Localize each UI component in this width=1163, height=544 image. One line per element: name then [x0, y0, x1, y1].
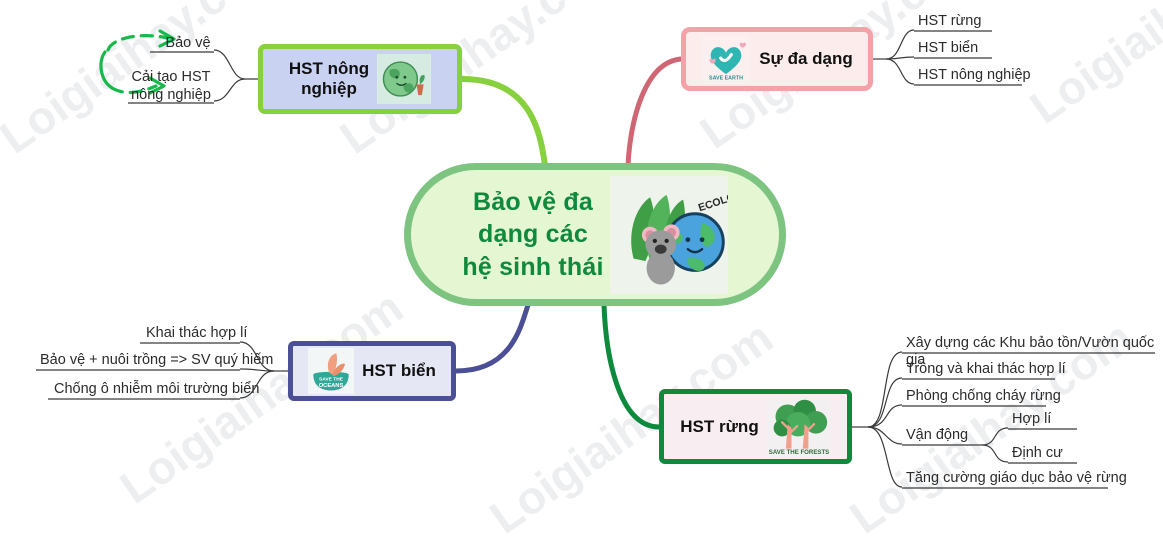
- sub-label-forest-5[interactable]: Tăng cường giáo dục bảo vệ rừng: [906, 470, 1127, 487]
- mindmap-canvas: Loigiaihay.com Loigiaihay.com Loigiaihay…: [0, 0, 1163, 503]
- sub-label-forest-3[interactable]: Phòng chống cháy rừng: [906, 388, 1061, 405]
- branch-node-sea[interactable]: SAVE THE OCEANS HST biển: [288, 341, 456, 401]
- branch-node-agriculture-label: HST nông nghiệp: [289, 59, 369, 98]
- sub-label-forest-vandong-2[interactable]: Định cư: [1012, 445, 1063, 462]
- earth-hugging-plant-icon: [377, 54, 431, 104]
- central-node[interactable]: Bảo vệ đa dạng các hệ sinh thái: [404, 163, 786, 306]
- save-the-oceans-whale-icon: SAVE THE OCEANS: [308, 348, 354, 394]
- branch-node-sea-label: HST biển: [362, 361, 436, 381]
- branch-node-forest[interactable]: HST rừng SAVE THE FORESTS: [659, 389, 852, 464]
- save-earth-heart-icon: SAVE EARTH: [701, 35, 751, 83]
- sub-label-forest-vandong-1[interactable]: Hợp lí: [1012, 411, 1051, 428]
- svg-text:SAVE EARTH: SAVE EARTH: [709, 75, 743, 81]
- central-node-label: Bảo vệ đa dạng các hệ sinh thái: [462, 186, 603, 284]
- sub-label-agri-2[interactable]: Cải tạo HST nông nghiệp: [128, 68, 214, 104]
- sub-label-diversity-1[interactable]: HST rừng: [918, 13, 981, 30]
- sub-label-forest-2[interactable]: Trồng và khai thác hợp lí: [906, 361, 1066, 378]
- branch-node-diversity-label: Sự đa dạng: [759, 49, 853, 69]
- svg-text:SAVE THE FORESTS: SAVE THE FORESTS: [768, 449, 829, 456]
- sub-label-diversity-2[interactable]: HST biển: [918, 40, 978, 57]
- branch-node-diversity[interactable]: SAVE EARTH Sự đa dạng: [681, 27, 873, 91]
- branch-node-agriculture[interactable]: HST nông nghiệp: [258, 44, 462, 114]
- sub-label-agri-1[interactable]: Bảo vệ: [162, 35, 214, 52]
- sub-label-sea-2[interactable]: Bảo vệ + nuôi trồng => SV quý hiếm: [40, 352, 273, 369]
- svg-text:OCEANS: OCEANS: [319, 383, 344, 389]
- sub-label-forest-4[interactable]: Vận động: [906, 427, 968, 444]
- save-the-forests-trees-icon: SAVE THE FORESTS: [767, 396, 831, 458]
- sub-label-sea-1[interactable]: Khai thác hợp lí: [146, 325, 247, 342]
- branch-node-forest-label: HST rừng: [680, 417, 758, 437]
- sub-label-diversity-3[interactable]: HST nông nghiệp: [918, 67, 1031, 84]
- sub-label-sea-3[interactable]: Chống ô nhiễm môi trường biển: [54, 381, 259, 398]
- koala-earth-ecology-icon: ECOLOGY: [610, 176, 728, 294]
- svg-text:SAVE THE: SAVE THE: [319, 377, 344, 383]
